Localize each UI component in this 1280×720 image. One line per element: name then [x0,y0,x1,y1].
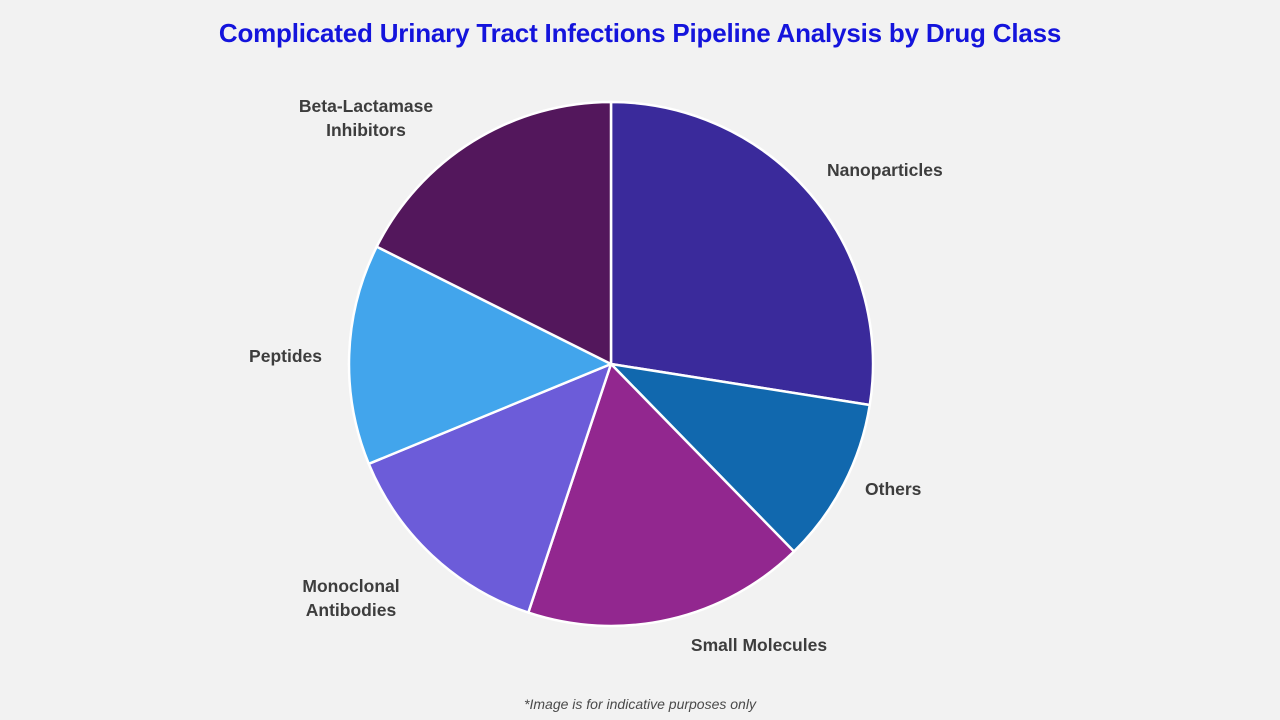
pie-label-monoclonal-antibodies: Monoclonal Antibodies [302,574,399,622]
pie-label-nanoparticles: Nanoparticles [827,158,943,182]
pie-slices-group [349,102,873,626]
pie-slice-nanoparticles[interactable] [611,102,873,405]
footnote-text: *Image is for indicative purposes only [0,696,1280,712]
pie-label-peptides: Peptides [249,344,322,368]
pie-label-beta-lactamase-inhibitors: Beta-Lactamase Inhibitors [299,94,433,142]
pie-chart-figure: Complicated Urinary Tract Infections Pip… [0,0,1280,720]
pie-plot-area: NanoparticlesOthersSmall MoleculesMonocl… [0,0,1280,700]
pie-label-others: Others [865,477,921,501]
pie-label-small-molecules: Small Molecules [691,633,827,657]
pie-svg [0,0,1280,700]
